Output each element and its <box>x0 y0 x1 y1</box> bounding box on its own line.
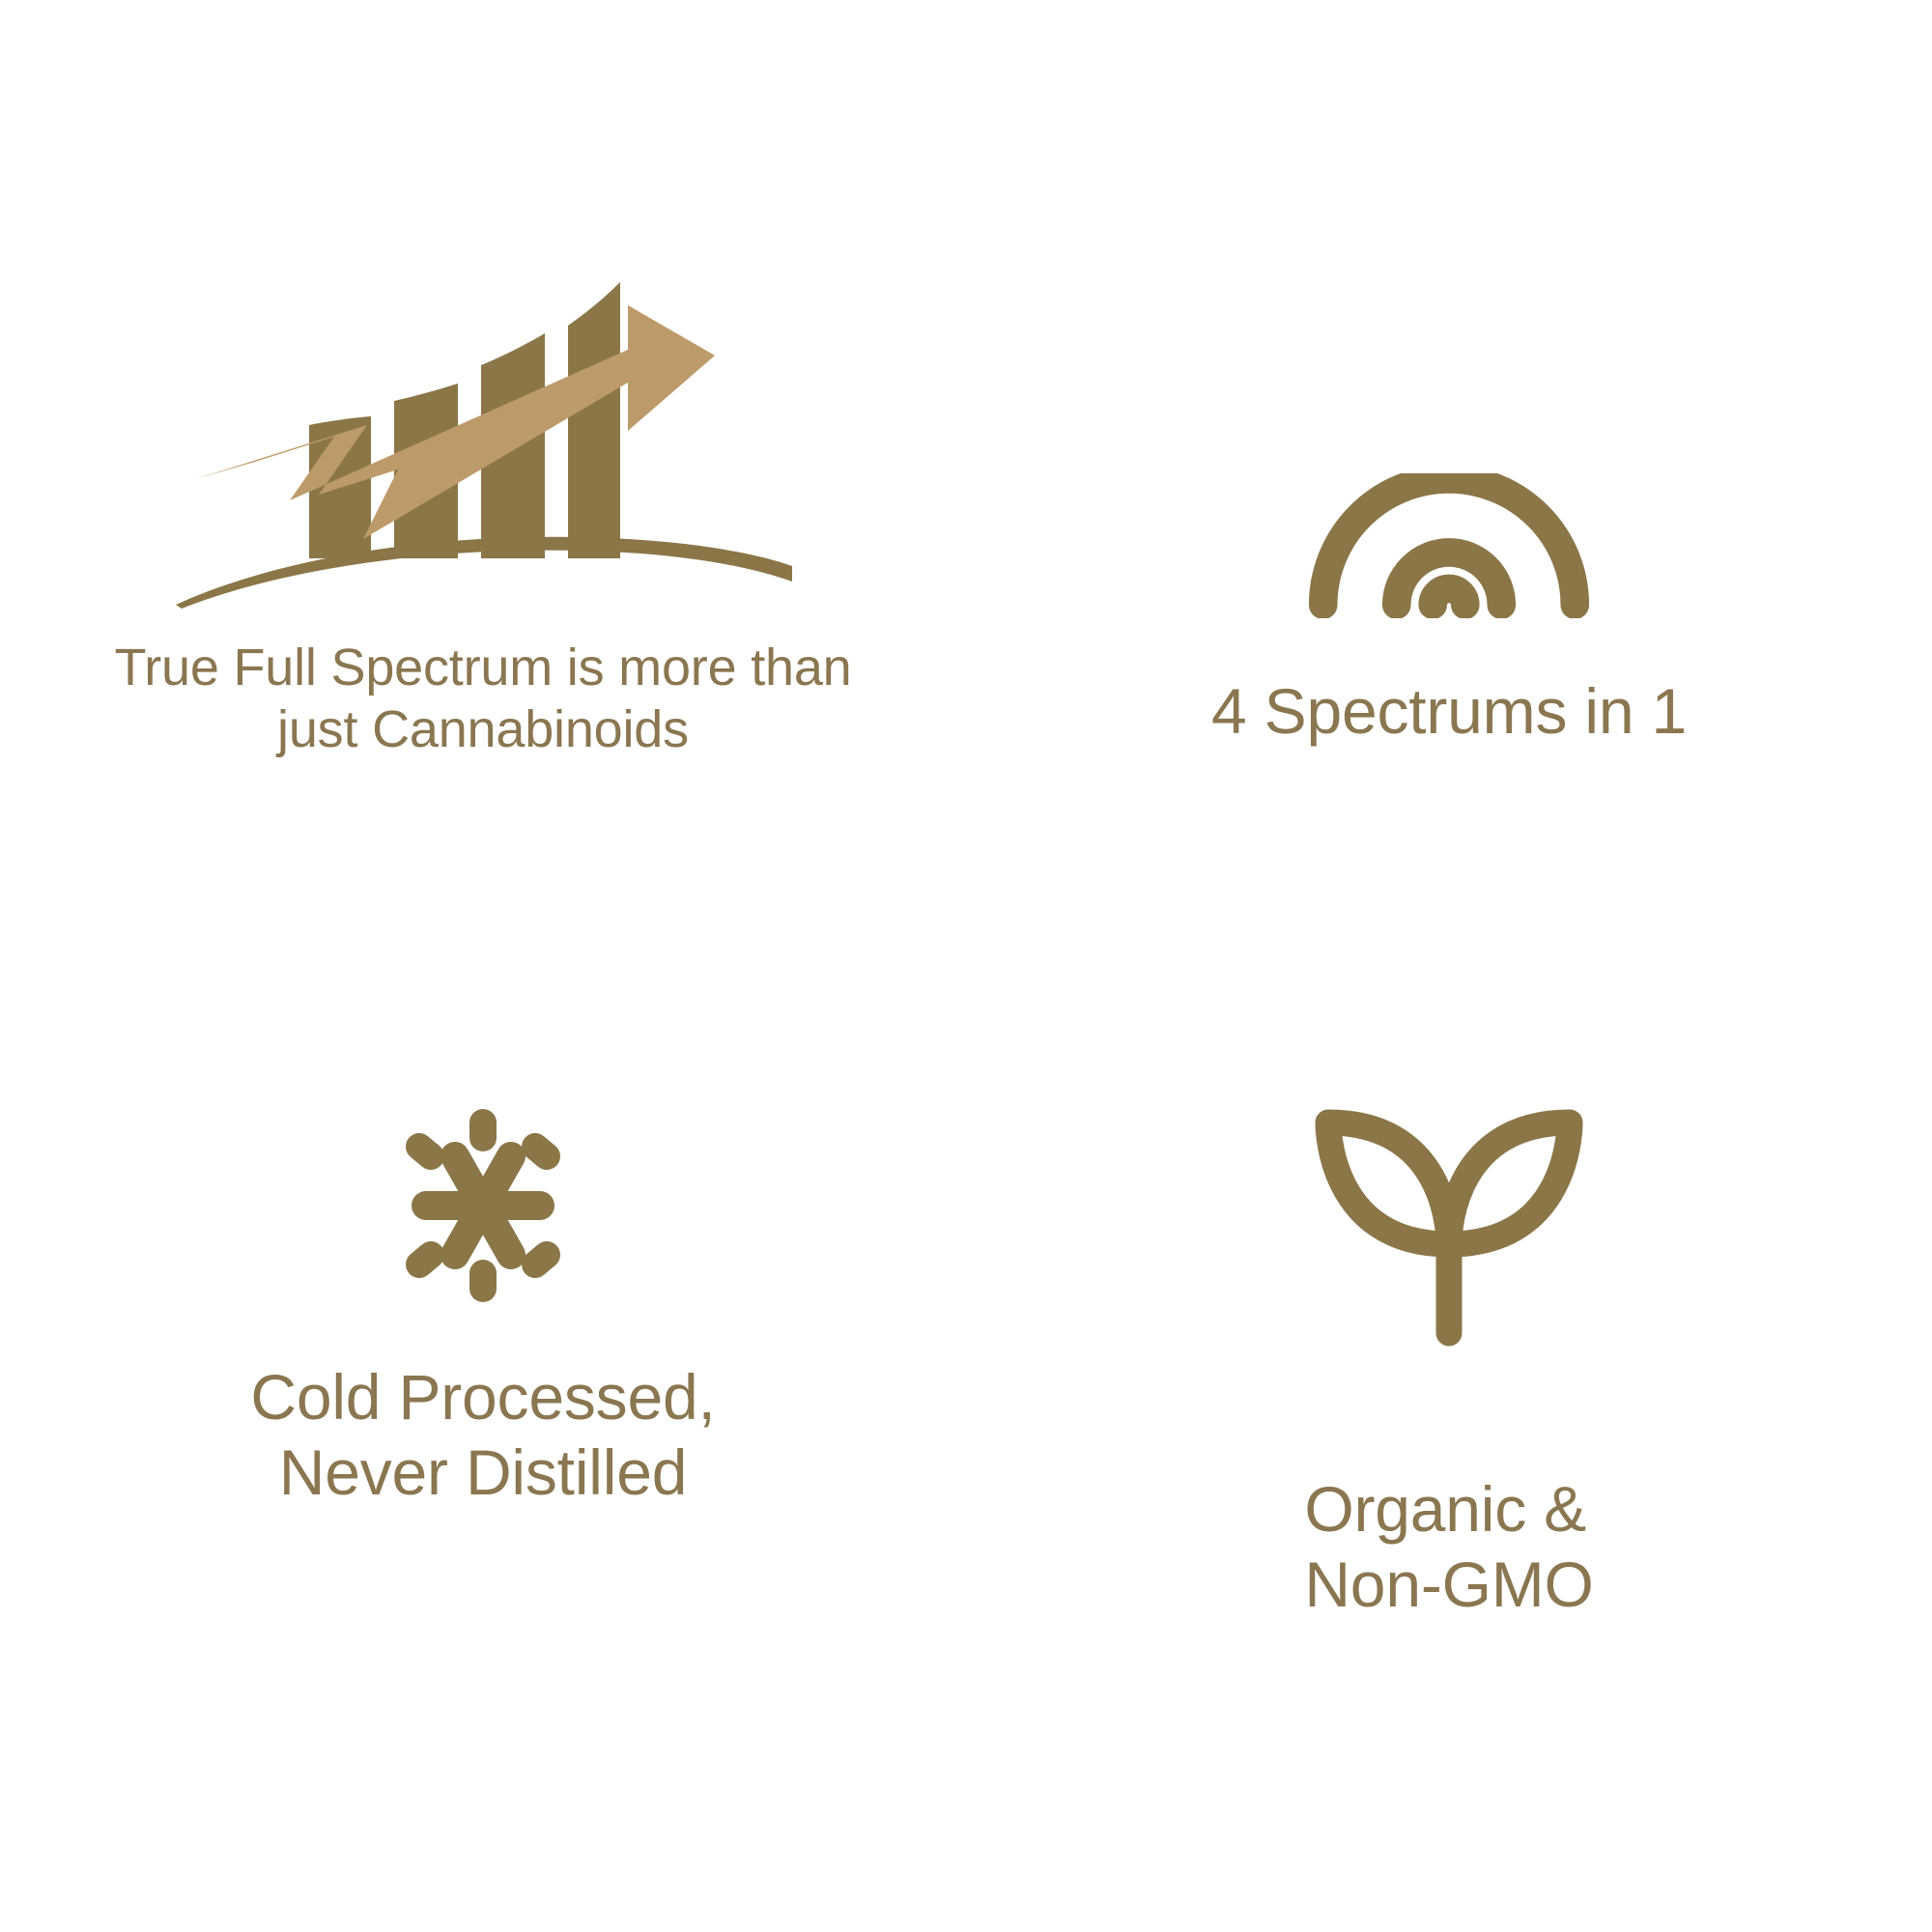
feature-item-cold-processed: Cold Processed, Never Distilled <box>0 966 966 1932</box>
feature-caption-wrap: Organic & Non-GMO <box>1304 1397 1593 1623</box>
rainbow-arcs-icon <box>1304 473 1594 618</box>
feature-caption: Organic & Non-GMO <box>1304 1472 1593 1623</box>
cold-snowflake-sun-icon <box>391 1109 575 1302</box>
sprout-leaf-icon <box>1309 1101 1589 1352</box>
feature-grid: True Full Spectrum is more than just Can… <box>0 0 1932 1932</box>
feature-caption: Cold Processed, Never Distilled <box>250 1360 715 1511</box>
feature-item-full-spectrum: True Full Spectrum is more than just Can… <box>0 0 966 966</box>
feature-caption: 4 Spectrums in 1 <box>1211 674 1687 750</box>
feature-item-four-spectrums: 4 Spectrums in 1 <box>966 0 1932 966</box>
feature-item-organic-non-gmo: Organic & Non-GMO <box>966 966 1932 1932</box>
feature-caption: True Full Spectrum is more than just Can… <box>114 638 851 760</box>
growth-chart-arrow-icon <box>174 280 792 609</box>
